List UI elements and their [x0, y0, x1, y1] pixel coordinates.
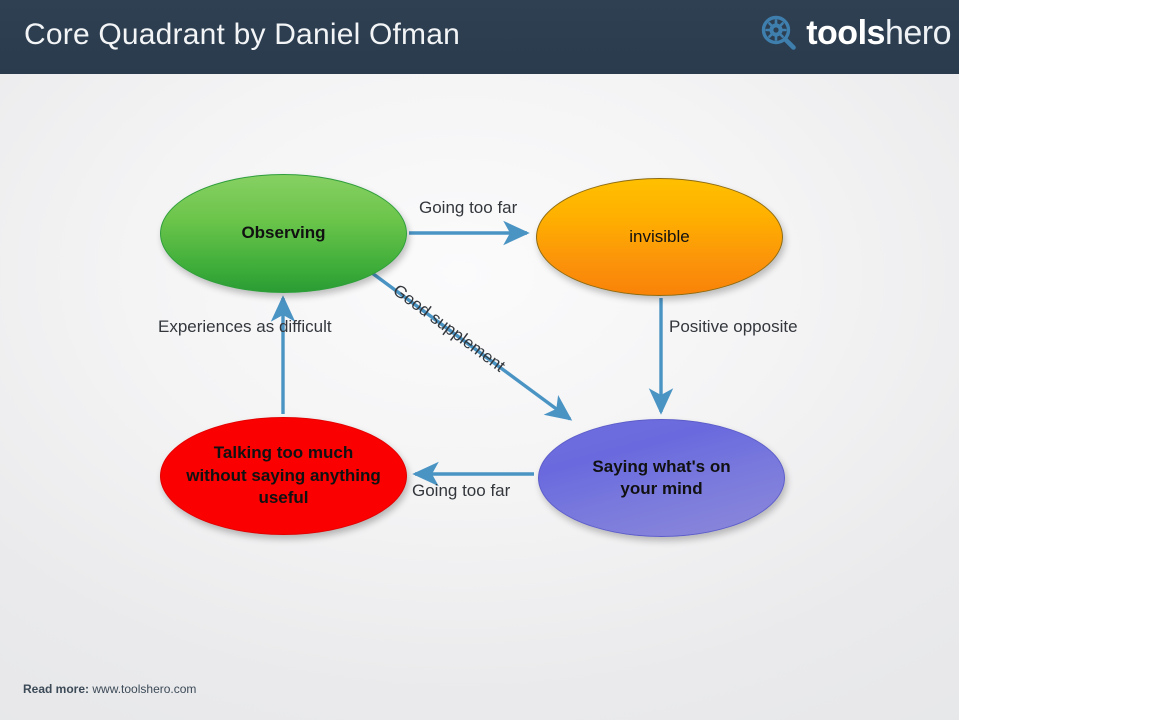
node-saying-whats-on-your-mind[interactable]: Saying what's on your mind	[538, 419, 785, 537]
node-saying-line-2: your mind	[592, 478, 730, 500]
node-invisible[interactable]: invisible	[536, 178, 783, 296]
node-talking-line-3: useful	[186, 487, 381, 509]
edge-label-left-line-1: Experiences	[158, 317, 252, 336]
edge-label-positive-opposite: Positive opposite	[669, 315, 798, 338]
logo-tools-text: tools	[806, 14, 885, 52]
edge-label-going-too-far-top: Going too far	[419, 196, 517, 219]
edge-label-going-too-far-bottom: Going too far	[412, 479, 510, 502]
toolshero-url[interactable]: www.toolshero.com	[92, 682, 196, 696]
node-talking-line-2: without saying anything	[186, 465, 381, 487]
logo-hero-text: hero	[885, 14, 951, 52]
edge-label-experiences-as-difficult: Experiences as difficult	[158, 315, 332, 338]
toolshero-logo: toolshero	[760, 14, 951, 52]
core-quadrant-diagram: Observing invisible Talking too much wit…	[0, 74, 959, 674]
edge-label-left-line-2: as difficult	[256, 317, 331, 336]
page-title: Core Quadrant by Daniel Ofman	[24, 18, 460, 52]
logo-wordmark: toolshero	[806, 14, 951, 52]
magnifier-gear-icon	[760, 14, 798, 52]
edge-label-right-line-1: Positive	[669, 317, 729, 336]
node-saying-line-1: Saying what's on	[592, 456, 730, 478]
node-talking-line-1: Talking too much	[186, 442, 381, 464]
slide-header: Core Quadrant by Daniel Ofman	[0, 0, 959, 74]
footer-read-more: Read more: www.toolshero.com	[23, 682, 196, 696]
diagram-connectors	[0, 74, 959, 674]
node-observing[interactable]: Observing	[160, 174, 407, 293]
node-observing-label: Observing	[241, 222, 325, 244]
node-talking-too-much[interactable]: Talking too much without saying anything…	[160, 417, 407, 535]
edge-label-right-line-2: opposite	[733, 317, 797, 336]
slide: Core Quadrant by Daniel Ofman	[0, 0, 959, 720]
node-talking-label: Talking too much without saying anything…	[186, 442, 381, 509]
node-saying-label: Saying what's on your mind	[592, 456, 730, 501]
node-invisible-label: invisible	[629, 226, 689, 248]
read-more-label: Read more:	[23, 682, 89, 696]
